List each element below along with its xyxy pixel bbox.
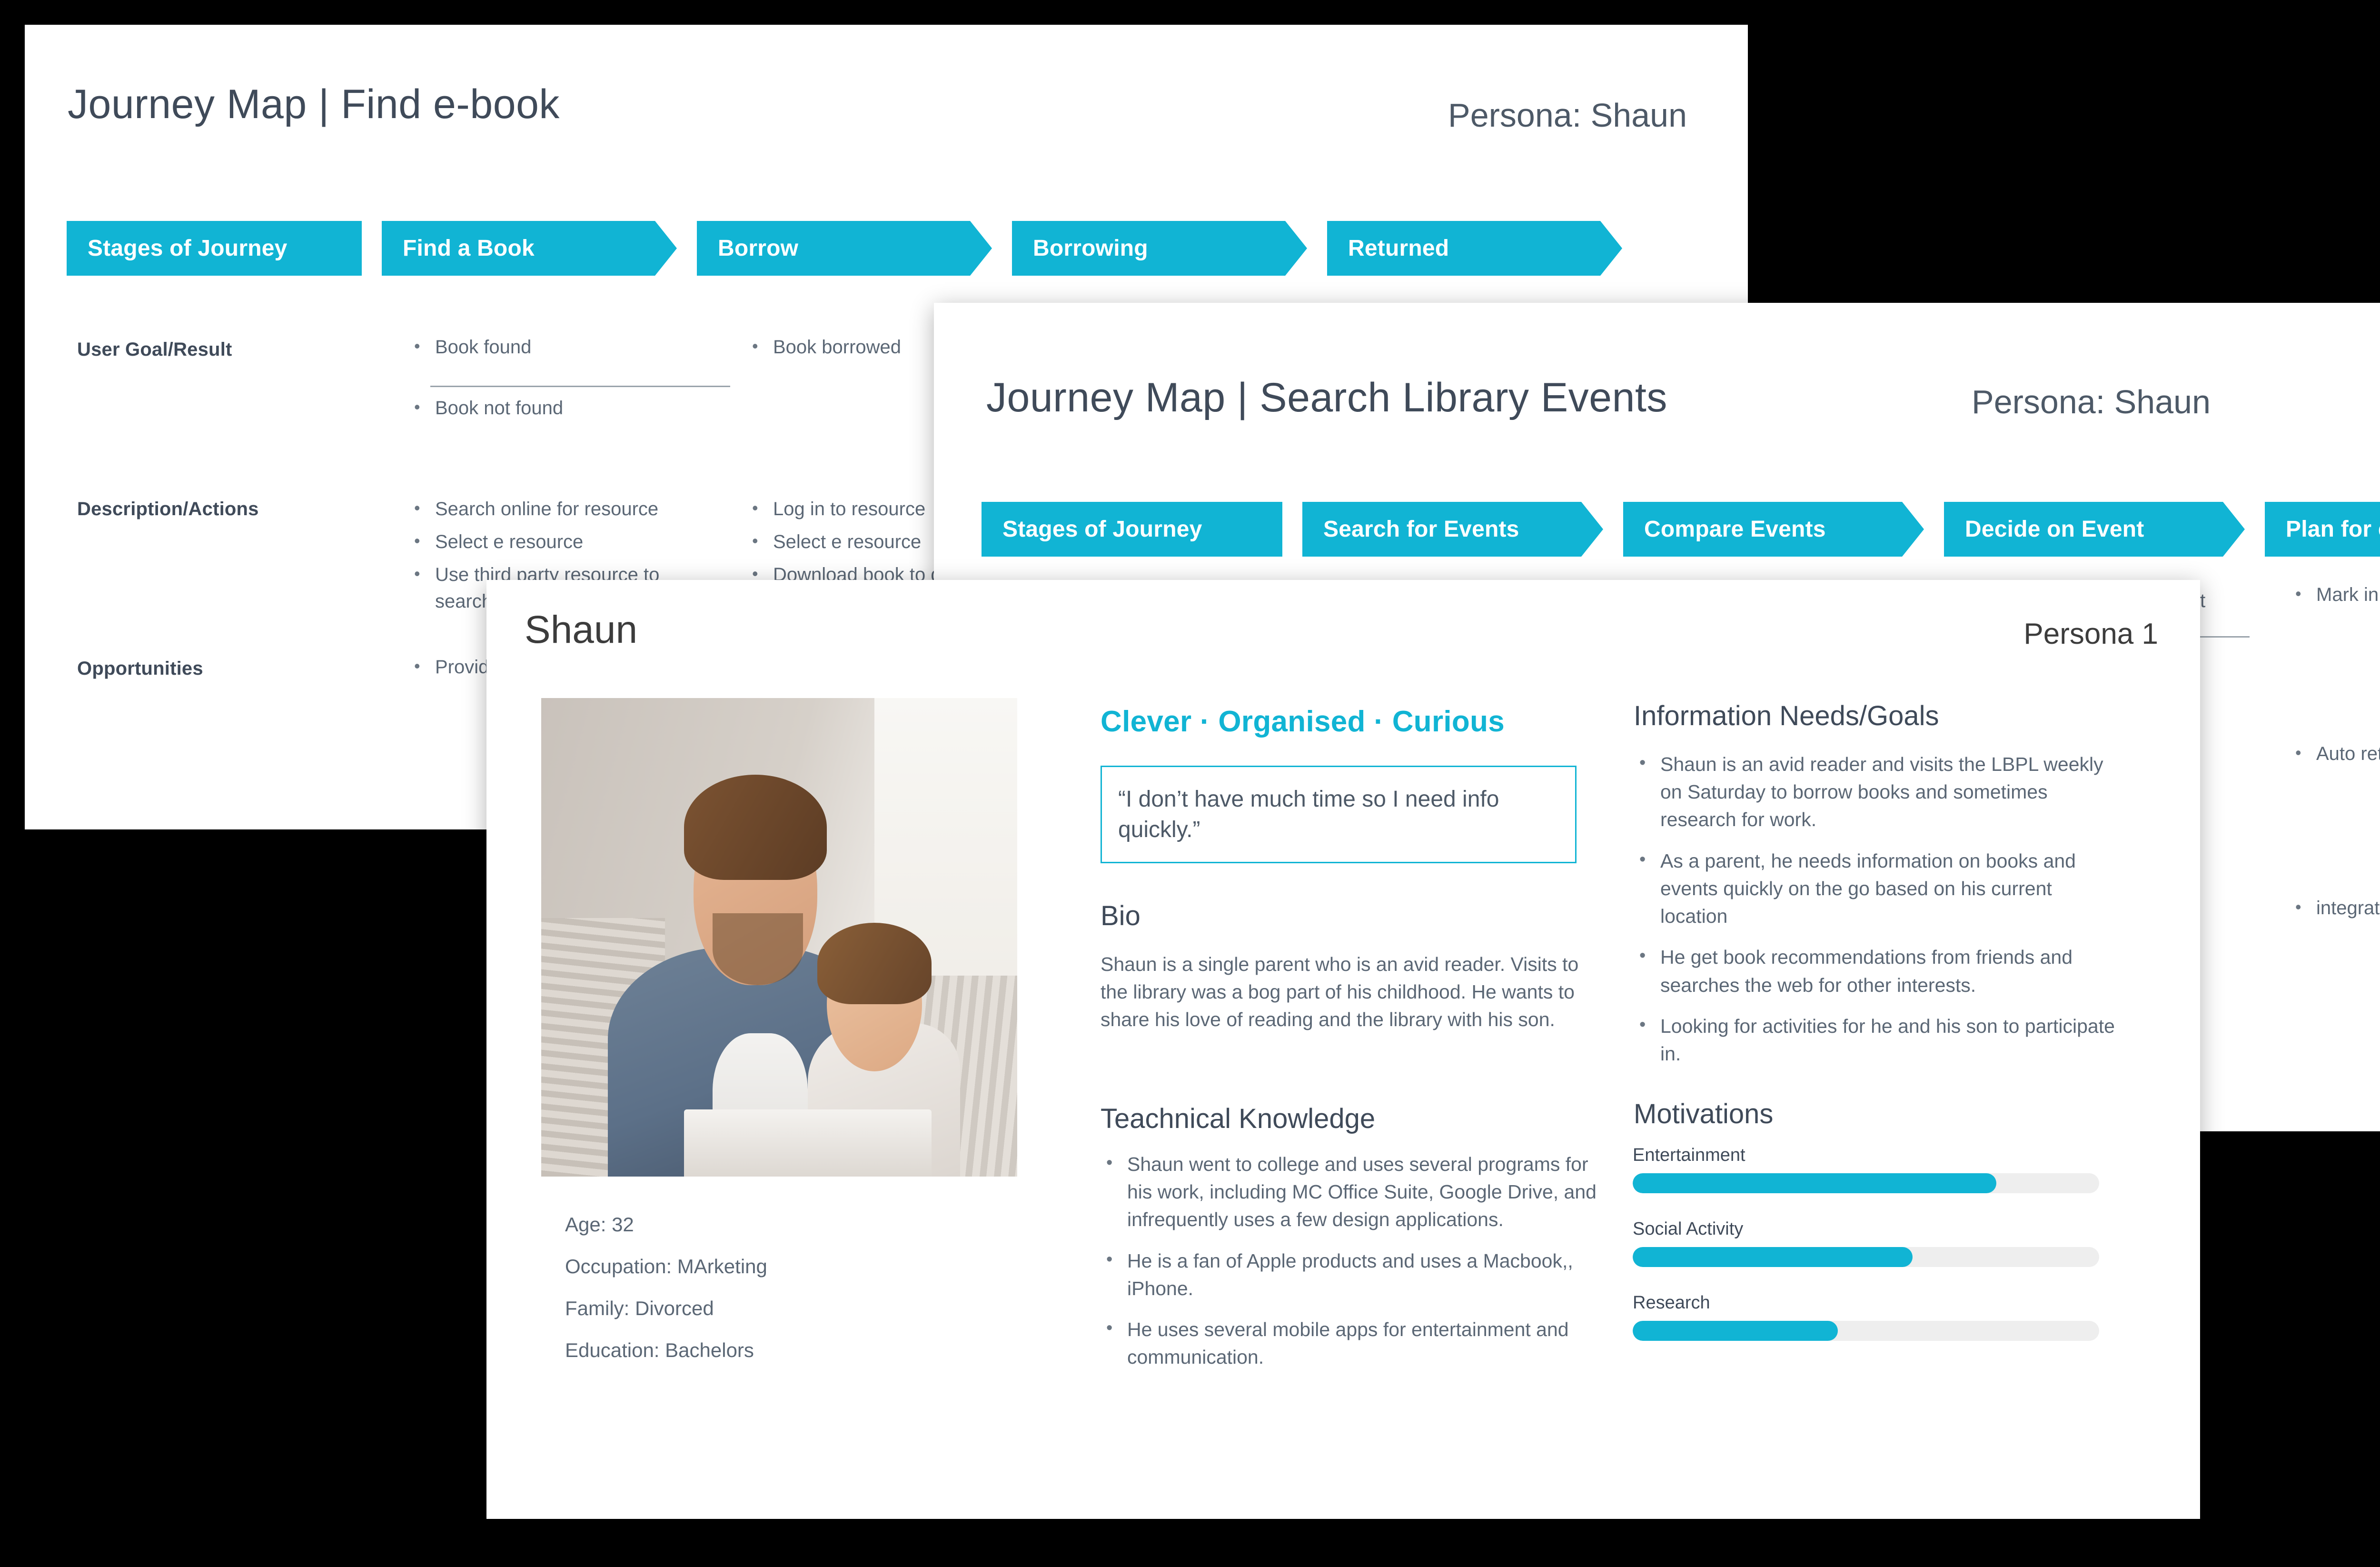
cell-goal-find-bottom: Book not found — [410, 395, 705, 428]
page-title: Journey Map | Search Library Events — [986, 374, 1667, 421]
stage-chip-label: Search for Events — [1323, 516, 1519, 542]
stage-chip-label: Decide on Event — [1965, 516, 2144, 542]
stage-chip-stages-of-journey[interactable]: Stages of Journey — [982, 502, 1282, 557]
motivation-fill — [1633, 1247, 1913, 1267]
cell-opportunities-plan: integrate calendar widget — [2291, 895, 2380, 928]
list-item: Mark in calendar — [2291, 582, 2380, 608]
persona-card: Shaun Persona 1 Age: 32 Occupation: MArk… — [486, 580, 2200, 1519]
list-item: As a parent, he needs information on boo… — [1634, 847, 2124, 930]
photo-book — [684, 1109, 932, 1177]
persona-label: Persona: Shaun — [1972, 383, 2211, 421]
stage-chip-stages-of-journey[interactable]: Stages of Journey — [67, 221, 362, 276]
stage-chip-label: Borrowing — [1033, 235, 1148, 261]
stage-chip-label: Borrow — [718, 235, 798, 261]
stage-chip-decide-on-event[interactable]: Decide on Event — [1944, 502, 2245, 557]
list-item: Shaun went to college and uses several p… — [1101, 1150, 1605, 1234]
motivation-row-social-activity: Social Activity — [1633, 1219, 2109, 1267]
row-label-opportunities: Opportunities — [77, 658, 203, 679]
bio-text: Shaun is a single parent who is an avid … — [1101, 950, 1581, 1034]
motivation-fill — [1633, 1321, 1838, 1341]
list-item: integrate calendar widget — [2291, 895, 2380, 921]
section-heading-technical-knowledge: Teachnical Knowledge — [1101, 1103, 1375, 1135]
photo-adult-hair — [684, 775, 827, 880]
cell-goal-find-top: Book found — [410, 334, 705, 367]
motivation-label: Research — [1633, 1293, 2109, 1313]
motivation-track — [1633, 1247, 2099, 1267]
cell-divider — [430, 386, 730, 387]
motivation-row-research: Research — [1633, 1293, 2109, 1341]
motivation-row-entertainment: Entertainment — [1633, 1145, 2109, 1193]
persona-quote-box: “I don’t have much time so I need info q… — [1101, 766, 1577, 863]
stage-chip-returned[interactable]: Returned — [1327, 221, 1622, 276]
demographic-family: Family: Divorced — [565, 1297, 714, 1320]
section-heading-bio: Bio — [1101, 900, 1140, 932]
technical-knowledge-list: Shaun went to college and uses several p… — [1101, 1150, 1605, 1385]
list-item: He get book recommendations from friends… — [1634, 943, 2124, 998]
section-heading-motivations: Motivations — [1634, 1098, 1773, 1130]
page-title: Journey Map | Find e-book — [68, 81, 560, 128]
list-item: Book not found — [410, 395, 705, 421]
persona-index-label: Persona 1 — [2023, 617, 2158, 651]
stage-chip-label: Stages of Journey — [88, 235, 288, 261]
stage-chip-label: Find a Book — [403, 235, 535, 261]
section-heading-information-needs: Information Needs/Goals — [1634, 700, 1939, 732]
row-label-description-actions: Description/Actions — [77, 499, 259, 520]
persona-quote-text: “I don’t have much time so I need info q… — [1118, 784, 1559, 845]
list-item: Shaun is an avid reader and visits the L… — [1634, 750, 2124, 834]
stage-chip-label: Returned — [1348, 235, 1449, 261]
stage-chip-compare-events[interactable]: Compare Events — [1623, 502, 1924, 557]
list-item: Search online for resource — [410, 496, 705, 522]
slides-canvas: Journey Map | Find e-book Persona: Shaun… — [0, 0, 2380, 1567]
demographic-occupation: Occupation: MArketing — [565, 1255, 767, 1278]
cell-actions-plan: Auto returned on date — [2291, 741, 2380, 774]
photo-child-hair — [817, 923, 932, 1004]
motivation-track — [1633, 1321, 2099, 1341]
list-item: He uses several mobile apps for entertai… — [1101, 1316, 1605, 1371]
information-needs-list: Shaun is an avid reader and visits the L… — [1634, 750, 2124, 1081]
row-label-user-goal: User Goal/Result — [77, 339, 232, 360]
list-item: Book found — [410, 334, 705, 360]
motivation-label: Entertainment — [1633, 1145, 2109, 1166]
persona-photo — [541, 698, 1017, 1177]
demographic-education: Education: Bachelors — [565, 1339, 754, 1362]
photo-adult-beard — [713, 913, 803, 985]
demographic-age: Age: 32 — [565, 1213, 634, 1236]
list-item: Auto returned on date — [2291, 741, 2380, 767]
stage-chip-borrow[interactable]: Borrow — [697, 221, 992, 276]
stage-chip-find-a-book[interactable]: Find a Book — [382, 221, 677, 276]
motivation-label: Social Activity — [1633, 1219, 2109, 1239]
cell-goal-plan: Mark in calendar — [2291, 582, 2380, 615]
stage-chip-plan-for-event[interactable]: Plan for event — [2265, 502, 2380, 557]
motivation-fill — [1633, 1173, 1996, 1193]
motivations-chart: Entertainment Social Activity Research — [1633, 1145, 2109, 1367]
motivation-track — [1633, 1173, 2099, 1193]
list-item: Select e resource — [410, 529, 705, 555]
stages-row: Stages of Journey Search for Events Comp… — [982, 502, 2380, 557]
stage-chip-search-for-events[interactable]: Search for Events — [1302, 502, 1603, 557]
stage-chip-label: Compare Events — [1644, 516, 1826, 542]
list-item: Looking for activities for he and his so… — [1634, 1012, 2124, 1068]
persona-traits: Clever · Organised · Curious — [1101, 705, 1505, 739]
stages-row: Stages of Journey Find a Book Borrow Bor… — [67, 221, 1622, 276]
persona-name: Shaun — [525, 608, 637, 652]
stage-chip-label: Plan for event — [2286, 516, 2380, 542]
stage-chip-borrowing[interactable]: Borrowing — [1012, 221, 1307, 276]
persona-label: Persona: Shaun — [1448, 96, 1687, 134]
stage-chip-label: Stages of Journey — [1002, 516, 1202, 542]
list-item: He is a fan of Apple products and uses a… — [1101, 1247, 1605, 1302]
